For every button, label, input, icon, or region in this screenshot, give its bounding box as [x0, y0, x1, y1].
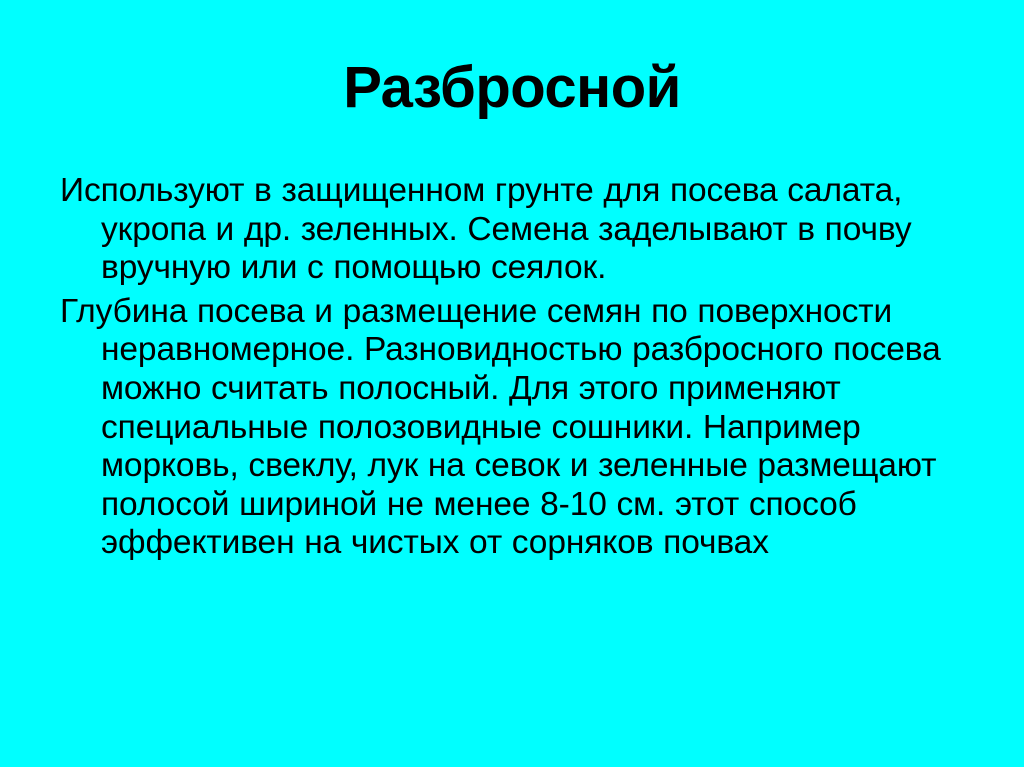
body-paragraph-1: Используют в защищенном грунте для посев…	[60, 172, 960, 288]
slide-title: Разбросной	[0, 56, 1024, 120]
body-paragraph-2: Глубина посева и размещение семян по пов…	[60, 293, 960, 563]
slide-body-content: Используют в защищенном грунте для посев…	[60, 172, 960, 563]
presentation-slide: Разбросной Используют в защищенном грунт…	[0, 0, 1024, 767]
